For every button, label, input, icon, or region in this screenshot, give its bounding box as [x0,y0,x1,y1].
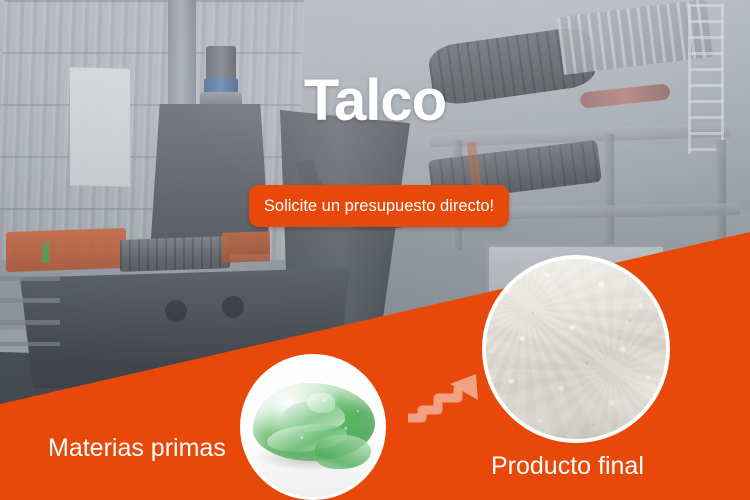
support-post-b [604,134,614,254]
final-product-image [482,255,670,443]
process-arrow [408,372,486,426]
hopper-port-a [165,300,187,322]
final-product-caption: Producto final [491,451,644,481]
request-quote-button[interactable]: Solicite un presupuesto directo! [249,185,509,227]
left-railing [0,276,60,346]
green-label-tag [42,243,49,263]
blower-drum [120,236,230,272]
page-title: Talco [0,72,750,130]
orange-mill-unit-right [222,231,270,263]
talc-powder-shading [486,259,666,439]
raw-material-caption: Materias primas [48,433,226,463]
zigzag-arrow-up-right-icon [408,372,486,426]
talc-stone-speculars [253,383,375,461]
hopper-port-b [222,296,244,318]
orange-mill-unit-left [6,228,126,272]
raw-material-image [243,357,383,497]
talc-stone-icon [253,383,375,461]
talco-promo-banner: Talco Solicite un presupuesto directo! M… [0,0,750,500]
